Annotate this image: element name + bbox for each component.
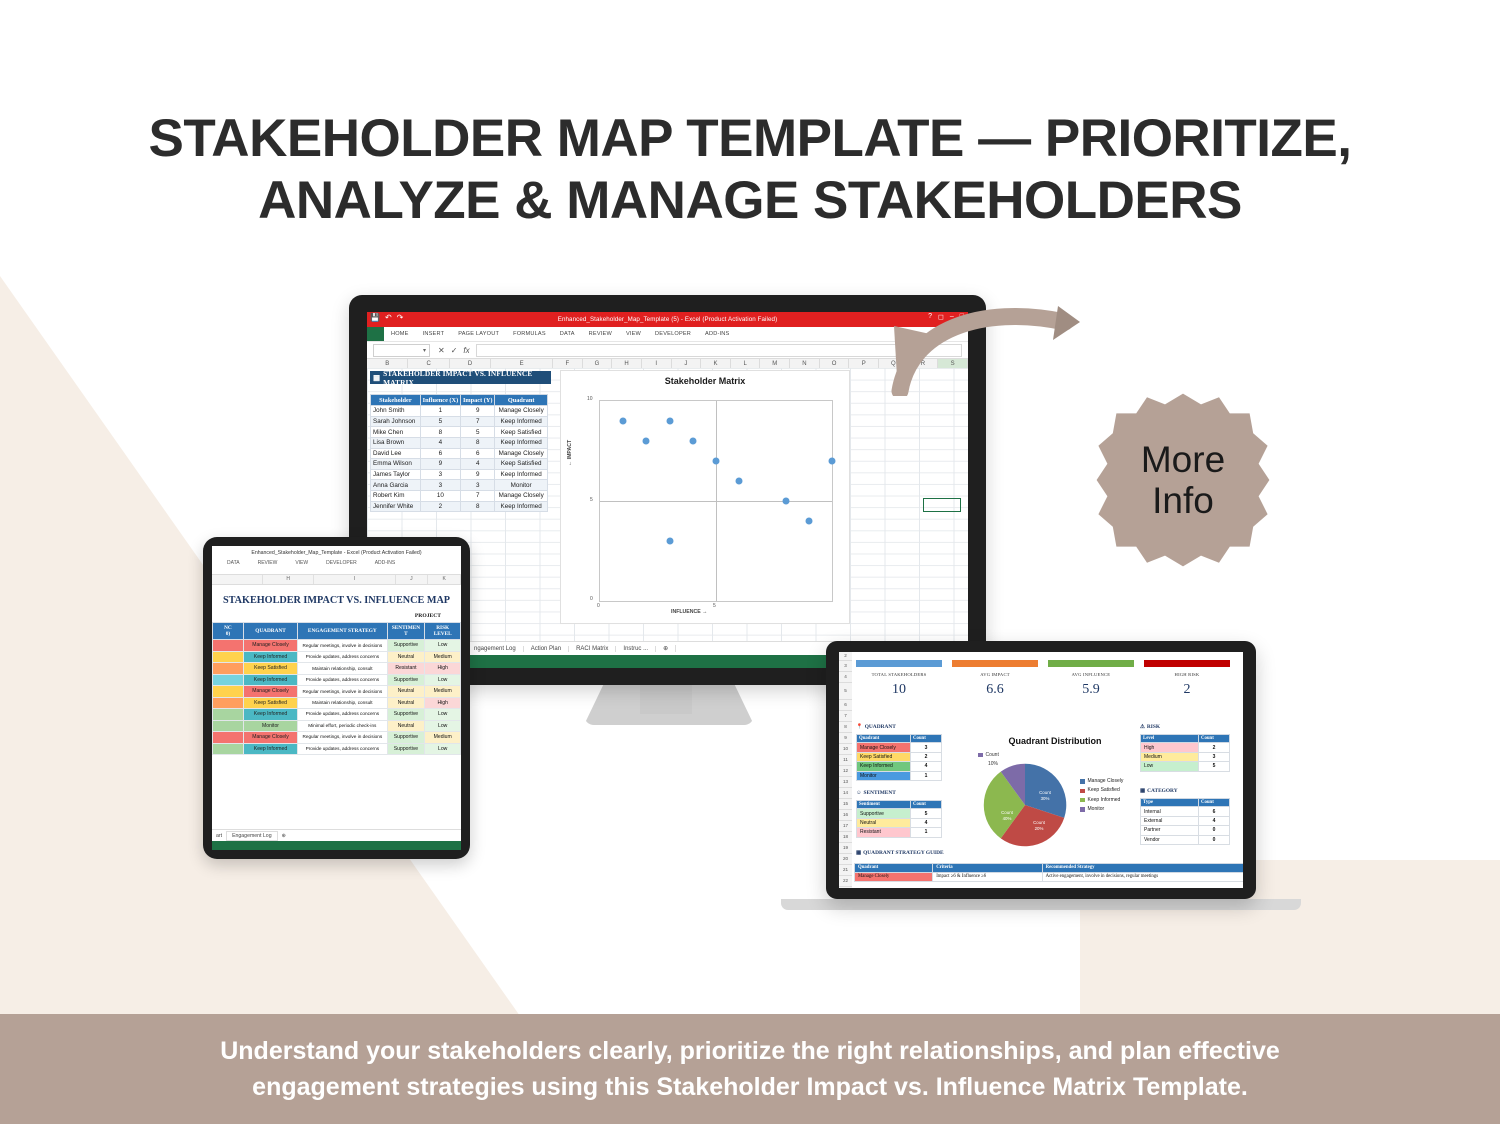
kpi-bar-3 [1144, 660, 1230, 667]
engagement-cell-6-1[interactable]: Keep Informed [243, 709, 297, 720]
engagement-cell-1-0[interactable] [213, 651, 244, 662]
dashboard-sheet[interactable]: TOTAL STAKEHOLDERS10AVG IMPACT6.6AVG INF… [852, 652, 1243, 888]
tablet-project-label: PROJECT [212, 609, 461, 622]
stakeholder-cell-0-3[interactable]: Manage Closely [495, 406, 548, 417]
pie-outside-series-name: Count [986, 752, 999, 758]
page-title-line-2: ANALYZE & MANAGE STAKEHOLDERS [0, 170, 1500, 233]
table-row[interactable]: Keep InformedProvide updates, address co… [213, 651, 461, 662]
quadrant-count-3[interactable]: 1 [911, 771, 942, 780]
book-icon: ▦ [856, 850, 861, 856]
laptop-row-header-7[interactable]: 7 [839, 711, 852, 722]
table-row[interactable]: Internal6 [1141, 807, 1230, 816]
engagement-cell-5-3[interactable]: Neutral [387, 697, 425, 708]
stakeholder-cell-2-0[interactable]: Mike Chen [371, 427, 421, 438]
engagement-cell-2-2[interactable]: Maintain relationship, consult [298, 663, 387, 674]
engagement-cell-1-4[interactable]: Medium [425, 651, 461, 662]
tablet-col-header-h[interactable]: H [263, 575, 314, 584]
engagement-cell-9-0[interactable] [213, 743, 244, 754]
engagement-cell-6-3[interactable]: Supportive [387, 709, 425, 720]
stakeholder-cell-3-2[interactable]: 8 [461, 437, 495, 448]
stakeholder-cell-5-1[interactable]: 9 [420, 459, 460, 470]
laptop-row-header-8[interactable]: 8 [839, 722, 852, 733]
kpi-value-0: 10 [856, 682, 942, 698]
stakeholder-cell-6-0[interactable]: James Taylor [371, 469, 421, 480]
laptop-row-header-2[interactable]: 2 [839, 652, 852, 661]
laptop-row-header-18[interactable]: 18 [839, 832, 852, 843]
pie-chart[interactable]: Count30% Count20% Count40% [982, 762, 1068, 848]
stakeholder-cell-5-3[interactable]: Keep Satisfied [495, 459, 548, 470]
kpi-label-1: AVG IMPACT [952, 672, 1038, 677]
quadrant-label-3[interactable]: Monitor [857, 771, 911, 780]
stakeholder-cell-2-2[interactable]: 5 [461, 427, 495, 438]
y-tick-10: 10 [587, 396, 593, 402]
engagement-cell-4-0[interactable] [213, 686, 244, 697]
engagement-cell-2-4[interactable]: High [425, 663, 461, 674]
strategy-cell-0-0[interactable]: Manage Closely [855, 872, 933, 881]
engagement-cell-7-2[interactable]: Minimal effort, periodic check-ins [298, 720, 387, 731]
engagement-cell-3-3[interactable]: Supportive [387, 674, 425, 685]
engagement-cell-5-4[interactable]: High [425, 697, 461, 708]
engagement-table-body[interactable]: Manage CloselyRegular meetings, involve … [213, 640, 461, 755]
table-row[interactable]: MonitorMinimal effort, periodic check-in… [213, 720, 461, 731]
stakeholder-cell-8-3[interactable]: Manage Closely [495, 490, 548, 501]
engagement-cell-3-1[interactable]: Keep Informed [243, 674, 297, 685]
laptop-row-headers[interactable]: 2345678910111213141516171819202122 [839, 652, 853, 888]
strategy-guide-title-text: QUADRANT STRATEGY GUIDE [863, 850, 943, 856]
engagement-cell-8-2[interactable]: Regular meetings, involve in decisions [298, 732, 387, 743]
engagement-cell-6-0[interactable] [213, 709, 244, 720]
kpi-bar-0 [856, 660, 942, 667]
sentiment-label-1[interactable]: Neutral [857, 818, 911, 827]
scatter-point-6[interactable] [666, 418, 673, 425]
stakeholder-cell-7-3[interactable]: Monitor [495, 480, 548, 491]
stakeholder-cell-7-0[interactable]: Anna Garcia [371, 480, 421, 491]
risk-label-0[interactable]: High [1141, 743, 1199, 752]
laptop-row-header-5[interactable]: 5 [839, 683, 852, 700]
engagement-cell-8-4[interactable]: Medium [425, 732, 461, 743]
desktop-window-title: Enhanced_Stakeholder_Map_Template (5) - … [367, 316, 968, 323]
table-row[interactable]: Mike Chen85Keep Satisfied [371, 427, 548, 438]
engagement-cell-0-2[interactable]: Regular meetings, involve in decisions [298, 640, 387, 651]
formula-controls[interactable]: ✕ ✓ fx [438, 346, 470, 355]
engagement-cell-3-2[interactable]: Provide updates, address concerns [298, 674, 387, 685]
table-row[interactable]: Monitor1 [857, 771, 942, 780]
engagement-cell-9-3[interactable]: Supportive [387, 743, 425, 754]
sentiment-col-1: Count [911, 801, 942, 809]
tablet-sheet-tab-chart[interactable]: art [216, 833, 222, 839]
risk-table-body[interactable]: High2Medium3Low5 [1141, 743, 1230, 771]
engagement-cell-7-1[interactable]: Monitor [243, 720, 297, 731]
strategy-cell-0-1[interactable]: Impact ≥6 & Influence ≥6 [933, 872, 1042, 881]
category-label-0[interactable]: Internal [1141, 807, 1199, 816]
add-sheet-icon[interactable]: ⊕ [656, 645, 676, 652]
insert-function-icon[interactable]: fx [463, 346, 469, 355]
stakeholder-table-header-row: StakeholderInfluence (X)Impact (Y)Quadra… [371, 395, 548, 406]
category-count-0[interactable]: 6 [1199, 807, 1230, 816]
engagement-cell-7-3[interactable]: Neutral [387, 720, 425, 731]
stakeholder-cell-8-0[interactable]: Robert Kim [371, 490, 421, 501]
table-row[interactable]: Manage CloselyRegular meetings, involve … [213, 686, 461, 697]
table-row[interactable]: Partner0 [1141, 826, 1230, 835]
stakeholder-cell-5-0[interactable]: Emma Wilson [371, 459, 421, 470]
quadrant-count-0[interactable]: 3 [911, 743, 942, 752]
engagement-cell-6-4[interactable]: Low [425, 709, 461, 720]
engagement-cell-7-0[interactable] [213, 720, 244, 731]
risk-panel-title: ⚠ RISK [1140, 724, 1160, 730]
laptop-row-header-16[interactable]: 16 [839, 810, 852, 821]
table-row[interactable]: Keep SatisfiedMaintain relationship, con… [213, 697, 461, 708]
cancel-icon[interactable]: ✕ [438, 346, 445, 355]
risk-table[interactable]: LevelCount High2Medium3Low5 [1140, 734, 1230, 772]
desktop-section-title-text: STAKEHOLDER IMPACT VS. INFLUENCE MATRIX [383, 369, 551, 387]
stakeholder-cell-1-2[interactable]: 7 [461, 416, 495, 427]
table-row[interactable]: Anna Garcia33Monitor [371, 480, 548, 491]
tablet-ribbon-tab-view[interactable]: VIEW [286, 560, 317, 566]
pie-outside-label-monitor: Count [978, 752, 999, 758]
sentiment-count-1[interactable]: 4 [911, 818, 942, 827]
table-row[interactable]: Manage CloselyImpact ≥6 & Influence ≥6Ac… [855, 872, 1244, 881]
scatter-point-3[interactable] [689, 438, 696, 445]
table-row[interactable]: Neutral4 [857, 818, 942, 827]
ribbon-tab-developer[interactable]: DEVELOPER [648, 331, 698, 337]
stakeholder-cell-6-3[interactable]: Keep Informed [495, 469, 548, 480]
stakeholder-cell-0-2[interactable]: 9 [461, 406, 495, 417]
engagement-cell-5-2[interactable]: Maintain relationship, consult [298, 697, 387, 708]
tablet-device: Enhanced_Stakeholder_Map_Template - Exce… [203, 537, 470, 859]
engagement-cell-0-3[interactable]: Supportive [387, 640, 425, 651]
file-tab[interactable] [367, 327, 384, 341]
stakeholder-cell-4-2[interactable]: 6 [461, 448, 495, 459]
strategy-guide-body[interactable]: Manage CloselyImpact ≥6 & Influence ≥6Ac… [855, 872, 1244, 881]
engagement-cell-7-4[interactable]: Low [425, 720, 461, 731]
risk-label-1[interactable]: Medium [1141, 752, 1199, 761]
sentiment-table-header-row: SentimentCount [857, 801, 942, 809]
stakeholder-cell-3-3[interactable]: Keep Informed [495, 437, 548, 448]
tablet-ribbon-tab-review[interactable]: REVIEW [249, 560, 287, 566]
category-label-2[interactable]: Partner [1141, 826, 1199, 835]
sentiment-col-0: Sentiment [857, 801, 911, 809]
footer-line-1: Understand your stakeholders clearly, pr… [220, 1037, 1280, 1065]
pie-legend-item-0: Manage Closely [1080, 777, 1123, 786]
stakeholder-cell-1-1[interactable]: 5 [420, 416, 460, 427]
scatter-point-2[interactable] [782, 498, 789, 505]
stakeholder-col-1: Influence (X) [420, 395, 460, 406]
quadrant-table[interactable]: QuadrantCount Manage Closely3Keep Satisf… [856, 734, 942, 781]
ribbon-tab-view[interactable]: VIEW [619, 331, 648, 337]
pie-legend-label-0: Manage Closely [1088, 777, 1124, 786]
category-table[interactable]: TypeCount Internal6External4Partner0Vend… [1140, 798, 1230, 845]
stakeholder-cell-4-0[interactable]: David Lee [371, 448, 421, 459]
risk-count-2[interactable]: 5 [1199, 762, 1230, 771]
quadrant-divider-horizontal [600, 501, 832, 502]
kpi-value-3: 2 [1144, 682, 1230, 698]
legend-swatch-icon [1080, 798, 1085, 803]
sheet-tab-2[interactable]: RACI Matrix [569, 646, 616, 652]
table-row[interactable]: John Smith19Manage Closely [371, 406, 548, 417]
risk-label-2[interactable]: Low [1141, 762, 1199, 771]
tablet-ribbon-tabs[interactable]: DATA REVIEW VIEW DEVELOPER ADD-INS [212, 556, 461, 569]
laptop-row-header-12[interactable]: 12 [839, 766, 852, 777]
engagement-cell-2-1[interactable]: Keep Satisfied [243, 663, 297, 674]
table-row[interactable]: External4 [1141, 816, 1230, 825]
laptop-row-header-15[interactable]: 15 [839, 799, 852, 810]
laptop-row-header-11[interactable]: 11 [839, 755, 852, 766]
engagement-cell-3-4[interactable]: Low [425, 674, 461, 685]
tablet-column-headers[interactable]: HIJK [212, 574, 461, 585]
pie-legend-label-1: Keep Satisfied [1088, 786, 1120, 795]
table-row[interactable]: Keep Informed4 [857, 762, 942, 771]
category-panel-title-text: CATEGORY [1147, 788, 1178, 794]
strategy-col-1: Criteria [933, 864, 1042, 873]
stakeholder-cell-6-1[interactable]: 3 [420, 469, 460, 480]
risk-col-0: Level [1141, 735, 1199, 743]
scatter-chart-title: Stakeholder Matrix [561, 376, 849, 386]
laptop-row-header-10[interactable]: 10 [839, 744, 852, 755]
scatter-point-7[interactable] [666, 538, 673, 545]
table-row[interactable]: Manage Closely3 [857, 743, 942, 752]
desktop-titlebar: 💾 ↶ ↷ Enhanced_Stakeholder_Map_Template … [367, 312, 968, 327]
scatter-point-8[interactable] [829, 458, 836, 465]
stakeholder-cell-6-2[interactable]: 9 [461, 469, 495, 480]
table-row[interactable]: Keep InformedProvide updates, address co… [213, 743, 461, 754]
engagement-cell-9-2[interactable]: Provide updates, address concerns [298, 743, 387, 754]
strategy-guide-header-row: QuadrantCriteriaRecommended Strategy [855, 864, 1244, 873]
quadrant-label-0[interactable]: Manage Closely [857, 743, 911, 752]
stakeholder-table[interactable]: StakeholderInfluence (X)Impact (Y)Quadra… [370, 394, 548, 512]
scatter-point-0[interactable] [620, 418, 627, 425]
table-row[interactable]: Manage CloselyRegular meetings, involve … [213, 640, 461, 651]
table-row[interactable]: Keep SatisfiedMaintain relationship, con… [213, 663, 461, 674]
pie-legend-label-3: Monitor [1088, 805, 1105, 814]
quadrant-count-2[interactable]: 4 [911, 762, 942, 771]
tablet-sheet-tab-engagement-log[interactable]: Engagement Log [226, 831, 278, 841]
tablet-status-bar [212, 841, 461, 850]
strategy-guide-title: ▦ QUADRANT STRATEGY GUIDE [856, 850, 944, 856]
ribbon-tab-review[interactable]: REVIEW [582, 331, 619, 337]
sentiment-label-0[interactable]: Supportive [857, 809, 911, 818]
ribbon-tab-insert[interactable]: INSERT [416, 331, 452, 337]
sentiment-table[interactable]: SentimentCount Supportive5Neutral4Resist… [856, 800, 942, 838]
stakeholder-cell-1-3[interactable]: Keep Informed [495, 416, 548, 427]
quadrant-table-body[interactable]: Manage Closely3Keep Satisfied2Keep Infor… [857, 743, 942, 781]
category-count-1[interactable]: 4 [1199, 816, 1230, 825]
engagement-cell-3-0[interactable] [213, 674, 244, 685]
stakeholder-cell-5-2[interactable]: 4 [461, 459, 495, 470]
scatter-point-9[interactable] [643, 438, 650, 445]
laptop-row-header-14[interactable]: 14 [839, 788, 852, 799]
stakeholder-cell-2-1[interactable]: 8 [420, 427, 460, 438]
tablet-sheet-tabs[interactable]: art Engagement Log ⊕ [212, 829, 461, 841]
stakeholder-cell-9-3[interactable]: Keep Informed [495, 501, 548, 512]
stakeholder-cell-9-2[interactable]: 8 [461, 501, 495, 512]
laptop-row-header-6[interactable]: 6 [839, 700, 852, 711]
kpi-value-2: 5.9 [1048, 682, 1134, 698]
table-row[interactable]: Keep InformedProvide updates, address co… [213, 709, 461, 720]
ribbon-tab-data[interactable]: DATA [553, 331, 582, 337]
engagement-cell-5-1[interactable]: Keep Satisfied [243, 697, 297, 708]
stakeholder-table-body[interactable]: John Smith19Manage CloselySarah Johnson5… [371, 406, 548, 512]
category-count-3[interactable]: 0 [1199, 835, 1230, 844]
quadrant-count-1[interactable]: 2 [911, 752, 942, 761]
ribbon-tab-page-layout[interactable]: PAGE LAYOUT [451, 331, 506, 337]
laptop-row-header-9[interactable]: 9 [839, 733, 852, 744]
table-row[interactable]: Sarah Johnson57Keep Informed [371, 416, 548, 427]
quadrant-label-2[interactable]: Keep Informed [857, 762, 911, 771]
formula-bar[interactable]: ▾ ✕ ✓ fx [367, 342, 968, 359]
scatter-point-5[interactable] [805, 518, 812, 525]
name-box[interactable]: ▾ [373, 344, 430, 357]
table-row[interactable]: Jennifer White28Keep Informed [371, 501, 548, 512]
table-row[interactable]: Low5 [1141, 762, 1230, 771]
laptop-row-header-19[interactable]: 19 [839, 843, 852, 854]
pie-chart-title: Quadrant Distribution [970, 736, 1140, 746]
engagement-cell-1-1[interactable]: Keep Informed [243, 651, 297, 662]
ribbon-tab-formulas[interactable]: FORMULAS [506, 331, 553, 337]
risk-panel-title-text: RISK [1147, 724, 1160, 730]
engagement-cell-8-0[interactable] [213, 732, 244, 743]
table-row[interactable]: Supportive5 [857, 809, 942, 818]
pie-legend-item-3: Monitor [1080, 805, 1123, 814]
stakeholder-matrix-chart[interactable]: Stakeholder Matrix 10 5 0 0 5 ← IMPACT I… [560, 370, 850, 624]
risk-count-0[interactable]: 2 [1199, 743, 1230, 752]
ribbon-tab-home[interactable]: HOME [384, 331, 416, 337]
laptop-row-header-22[interactable]: 22 [839, 876, 852, 887]
tablet-col-header-i[interactable]: I [314, 575, 395, 584]
table-row[interactable]: David Lee66Manage Closely [371, 448, 548, 459]
engagement-col-2: ENGAGEMENT STRATEGY [298, 623, 387, 640]
stakeholder-cell-0-1[interactable]: 1 [420, 406, 460, 417]
stakeholder-cell-2-3[interactable]: Keep Satisfied [495, 427, 548, 438]
selected-cell[interactable] [923, 498, 961, 512]
tablet-col-header-j[interactable]: J [396, 575, 429, 584]
stakeholder-cell-7-1[interactable]: 3 [420, 480, 460, 491]
sentiment-label-2[interactable]: Resistant [857, 828, 911, 837]
engagement-cell-8-1[interactable]: Manage Closely [243, 732, 297, 743]
pie-legend-label-2: Keep Informed [1088, 796, 1121, 805]
curved-arrow-icon [890, 296, 1080, 396]
stakeholder-cell-4-1[interactable]: 6 [420, 448, 460, 459]
tablet-ribbon-tab-add-ins[interactable]: ADD-INS [366, 560, 405, 566]
stakeholder-cell-8-2[interactable]: 7 [461, 490, 495, 501]
sheet-tab-0[interactable]: ngagement Log [467, 646, 524, 652]
engagement-cell-4-1[interactable]: Manage Closely [243, 686, 297, 697]
engagement-col-1: QUADRANT [243, 623, 297, 640]
pie-label-keep-informed: Count40% [992, 810, 1022, 821]
engagement-strategy-table[interactable]: NC0)QUADRANTENGAGEMENT STRATEGYSENTIMENT… [212, 622, 461, 755]
category-label-1[interactable]: External [1141, 816, 1199, 825]
engagement-col-3: SENTIMENT [387, 623, 425, 640]
engagement-cell-8-3[interactable]: Supportive [387, 732, 425, 743]
table-row[interactable]: Lisa Brown48Keep Informed [371, 437, 548, 448]
scatter-point-1[interactable] [713, 458, 720, 465]
table-row[interactable]: Medium3 [1141, 752, 1230, 761]
legend-swatch-icon [1080, 789, 1085, 794]
laptop-row-header-13[interactable]: 13 [839, 777, 852, 788]
x-tick-5: 5 [713, 603, 716, 609]
engagement-cell-0-0[interactable] [213, 640, 244, 651]
stakeholder-cell-3-0[interactable]: Lisa Brown [371, 437, 421, 448]
stakeholder-cell-4-3[interactable]: Manage Closely [495, 448, 548, 459]
scatter-x-axis-label: INFLUENCE → [671, 609, 707, 615]
category-count-2[interactable]: 0 [1199, 826, 1230, 835]
risk-count-1[interactable]: 3 [1199, 752, 1230, 761]
sheet-tab-1[interactable]: Action Plan [524, 646, 569, 652]
sheet-tab-3[interactable]: Instruc ... [616, 646, 656, 652]
table-row[interactable]: Keep Satisfied2 [857, 752, 942, 761]
strategy-cell-0-2[interactable]: Active engagement, involve in decisions,… [1042, 872, 1243, 881]
engagement-cell-2-0[interactable] [213, 663, 244, 674]
add-sheet-icon[interactable]: ⊕ [282, 833, 286, 839]
stakeholder-col-2: Impact (Y) [461, 395, 495, 406]
engagement-cell-4-4[interactable]: Medium [425, 686, 461, 697]
tablet-window-title: Enhanced_Stakeholder_Map_Template - Exce… [212, 546, 461, 556]
quadrant-label-1[interactable]: Keep Satisfied [857, 752, 911, 761]
laptop-row-header-4[interactable]: 4 [839, 672, 852, 683]
table-row[interactable]: Vendor0 [1141, 835, 1230, 844]
pie-label-manage-closely: Count30% [1030, 790, 1060, 801]
stakeholder-cell-1-0[interactable]: Sarah Johnson [371, 416, 421, 427]
sentiment-table-body[interactable]: Supportive5Neutral4Resistant1 [857, 809, 942, 837]
laptop-row-header-3[interactable]: 3 [839, 661, 852, 672]
tablet-col-header-k[interactable]: K [428, 575, 461, 584]
category-label-3[interactable]: Vendor [1141, 835, 1199, 844]
scatter-point-4[interactable] [736, 478, 743, 485]
engagement-cell-9-1[interactable]: Keep Informed [243, 743, 297, 754]
stakeholder-cell-3-1[interactable]: 4 [420, 437, 460, 448]
confirm-icon[interactable]: ✓ [451, 346, 458, 355]
laptop-row-header-21[interactable]: 21 [839, 865, 852, 876]
table-row[interactable]: Robert Kim107Manage Closely [371, 490, 548, 501]
engagement-cell-1-2[interactable]: Provide updates, address concerns [298, 651, 387, 662]
stakeholder-cell-9-1[interactable]: 2 [420, 501, 460, 512]
engagement-cell-9-4[interactable]: Low [425, 743, 461, 754]
stakeholder-cell-8-1[interactable]: 10 [420, 490, 460, 501]
stakeholder-cell-7-2[interactable]: 3 [461, 480, 495, 491]
sentiment-count-2[interactable]: 1 [911, 828, 942, 837]
strategy-guide-table[interactable]: QuadrantCriteriaRecommended Strategy Man… [854, 863, 1243, 882]
engagement-cell-0-4[interactable]: Low [425, 640, 461, 651]
tablet-ribbon-tab-developer[interactable]: DEVELOPER [317, 560, 366, 566]
stakeholder-cell-0-0[interactable]: John Smith [371, 406, 421, 417]
engagement-cell-1-3[interactable]: Neutral [387, 651, 425, 662]
laptop-row-header-17[interactable]: 17 [839, 821, 852, 832]
engagement-cell-0-1[interactable]: Manage Closely [243, 640, 297, 651]
table-row[interactable]: Resistant1 [857, 828, 942, 837]
footer-line-2: engagement strategies using this Stakeho… [252, 1073, 1248, 1101]
pie-label-keep-satisfied: Count20% [1024, 820, 1054, 831]
ribbon-tab-add-ins[interactable]: ADD-INS [698, 331, 736, 337]
engagement-cell-4-3[interactable]: Neutral [387, 686, 425, 697]
sentiment-count-0[interactable]: 5 [911, 809, 942, 818]
stakeholder-cell-9-0[interactable]: Jennifer White [371, 501, 421, 512]
table-row[interactable]: Keep InformedProvide updates, address co… [213, 674, 461, 685]
engagement-cell-5-0[interactable] [213, 697, 244, 708]
laptop-row-header-20[interactable]: 20 [839, 854, 852, 865]
table-row[interactable]: High2 [1141, 743, 1230, 752]
table-row[interactable]: Manage CloselyRegular meetings, involve … [213, 732, 461, 743]
category-table-body[interactable]: Internal6External4Partner0Vendor0 [1141, 807, 1230, 845]
desktop-ribbon-tabs[interactable]: HOME INSERT PAGE LAYOUT FORMULAS DATA RE… [367, 327, 968, 342]
risk-table-header-row: LevelCount [1141, 735, 1230, 743]
tablet-ribbon-tab-data[interactable]: DATA [218, 560, 249, 566]
table-row[interactable]: Emma Wilson94Keep Satisfied [371, 459, 548, 470]
table-row[interactable]: James Taylor39Keep Informed [371, 469, 548, 480]
engagement-cell-6-2[interactable]: Provide updates, address concerns [298, 709, 387, 720]
engagement-cell-4-2[interactable]: Regular meetings, involve in decisions [298, 686, 387, 697]
engagement-cell-2-3[interactable]: Resistant [387, 663, 425, 674]
legend-swatch-icon [1080, 807, 1085, 812]
scatter-plot-area [599, 400, 833, 602]
